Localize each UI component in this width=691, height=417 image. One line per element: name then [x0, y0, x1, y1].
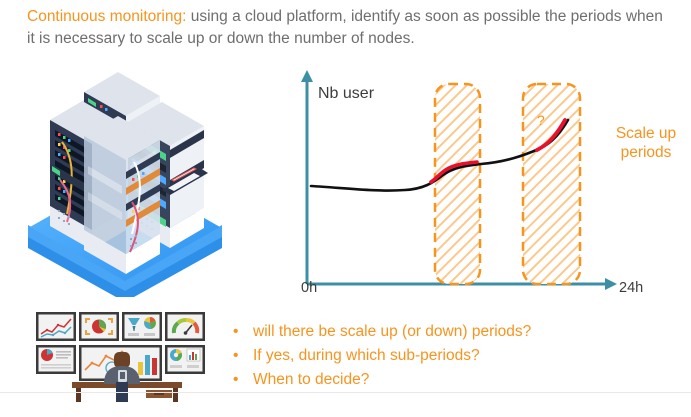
- scale-up-periods-label-line2: periods: [601, 143, 691, 162]
- list-item-label: will there be scale up (or down) periods…: [253, 323, 531, 340]
- scale-up-period-2-region: [523, 84, 580, 284]
- bottom-divider: [0, 392, 691, 393]
- x-axis-tick-start: 0h: [301, 280, 317, 296]
- nb-user-chart: Nb user 0h 24h ? Scale up periods: [285, 62, 691, 307]
- list-item: • will there be scale up (or down) perio…: [229, 320, 531, 344]
- scale-up-periods-label: Scale up periods: [601, 124, 691, 162]
- server-rack-front-center: [84, 116, 160, 274]
- page-title: Continuous monitoring: using a cloud pla…: [27, 6, 667, 50]
- list-item: • When to decide?: [229, 368, 531, 392]
- monitor-donut-bar: [165, 345, 205, 374]
- monitor-report: [36, 345, 76, 374]
- monitor-gauge-chart: [165, 312, 205, 341]
- y-axis: [301, 70, 313, 284]
- page-title-lead: Continuous monitoring:: [27, 8, 186, 25]
- x-axis-tick-end: 24h: [619, 280, 643, 296]
- monitor-pie-chart: [79, 312, 119, 341]
- list-item-label: If yes, during which sub-periods?: [253, 347, 480, 364]
- monitoring-dashboard-illustration: [34, 308, 220, 408]
- scale-up-period-1-region: [435, 84, 480, 284]
- monitor-funnel-chart: [122, 312, 162, 341]
- bullet-marker-icon: •: [233, 368, 238, 392]
- bullet-marker-icon: •: [233, 320, 238, 344]
- bullet-marker-icon: •: [233, 344, 238, 368]
- questions-list: • will there be scale up (or down) perio…: [229, 320, 531, 392]
- scale-up-periods-label-line1: Scale up: [601, 124, 691, 143]
- list-item: • If yes, during which sub-periods?: [229, 344, 531, 368]
- question-mark-annotation: ?: [537, 112, 545, 128]
- y-axis-label: Nb user: [318, 85, 374, 103]
- monitor-line-chart: [36, 312, 76, 341]
- datacenter-illustration: [22, 62, 232, 297]
- list-item-label: When to decide?: [253, 371, 369, 388]
